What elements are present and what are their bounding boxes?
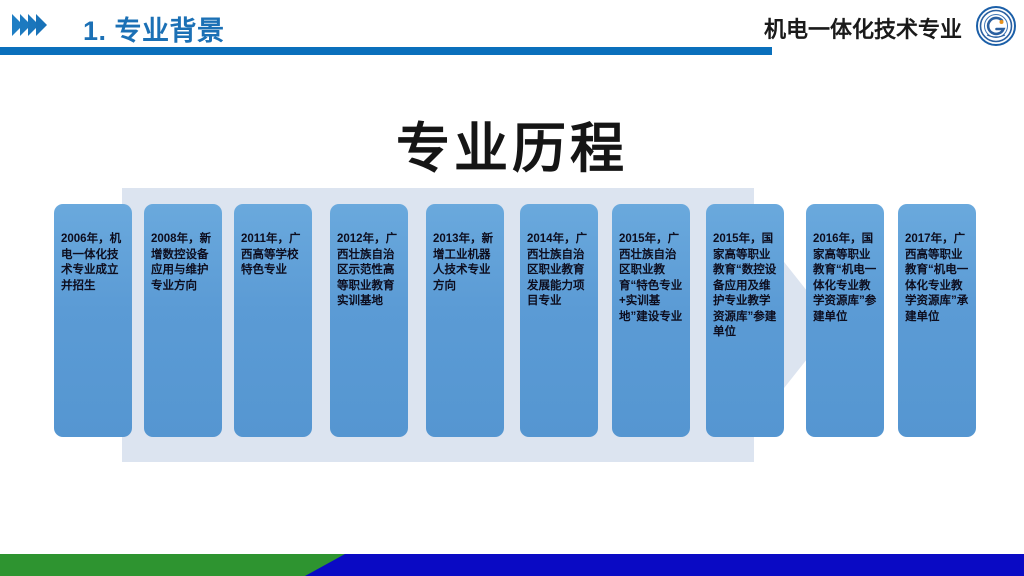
timeline-item[interactable]: 2015年，国家高等职业教育“数控设备应用及维护专业教学资源库”参建单位 bbox=[706, 204, 784, 437]
timeline-item[interactable]: 2008年，新增数控设备应用与维护专业方向 bbox=[144, 204, 222, 437]
timeline-item-label: 2014年，广西壮族自治区职业教育发展能力项目专业 bbox=[527, 232, 593, 310]
timeline-item-label: 2012年，广西壮族自治区示范性高等职业教育实训基地 bbox=[337, 232, 403, 310]
timeline-item[interactable]: 2017年，广西高等职业教育“机电一体化专业教学资源库”承建单位 bbox=[898, 204, 976, 437]
timeline-item-label: 2015年，广西壮族自治区职业教育“特色专业+实训基地”建设专业 bbox=[619, 232, 685, 325]
timeline-item[interactable]: 2016年，国家高等职业教育“机电一体化专业教学资源库”参建单位 bbox=[806, 204, 884, 437]
footer-green-band bbox=[0, 554, 345, 576]
timeline-item-label: 2006年，机电一体化技术专业成立并招生 bbox=[61, 232, 127, 294]
timeline-item[interactable]: 2006年，机电一体化技术专业成立并招生 bbox=[54, 204, 132, 437]
timeline-item[interactable]: 2014年，广西壮族自治区职业教育发展能力项目专业 bbox=[520, 204, 598, 437]
timeline-item-label: 2017年，广西高等职业教育“机电一体化专业教学资源库”承建单位 bbox=[905, 232, 971, 325]
timeline-item-label: 2011年，广西高等学校特色专业 bbox=[241, 232, 307, 279]
timeline-item-label: 2016年，国家高等职业教育“机电一体化专业教学资源库”参建单位 bbox=[813, 232, 879, 325]
timeline-item-label: 2015年，国家高等职业教育“数控设备应用及维护专业教学资源库”参建单位 bbox=[713, 232, 779, 341]
timeline-item[interactable]: 2011年，广西高等学校特色专业 bbox=[234, 204, 312, 437]
timeline-item[interactable]: 2012年，广西壮族自治区示范性高等职业教育实训基地 bbox=[330, 204, 408, 437]
timeline-diagram: 2006年，机电一体化技术专业成立并招生 2008年，新增数控设备应用与维护专业… bbox=[0, 0, 1024, 576]
timeline-item-label: 2013年，新增工业机器人技术专业方向 bbox=[433, 232, 499, 294]
timeline-item[interactable]: 2015年，广西壮族自治区职业教育“特色专业+实训基地”建设专业 bbox=[612, 204, 690, 437]
timeline-item-label: 2008年，新增数控设备应用与维护专业方向 bbox=[151, 232, 217, 294]
slide-footer bbox=[0, 554, 1024, 576]
timeline-item[interactable]: 2013年，新增工业机器人技术专业方向 bbox=[426, 204, 504, 437]
